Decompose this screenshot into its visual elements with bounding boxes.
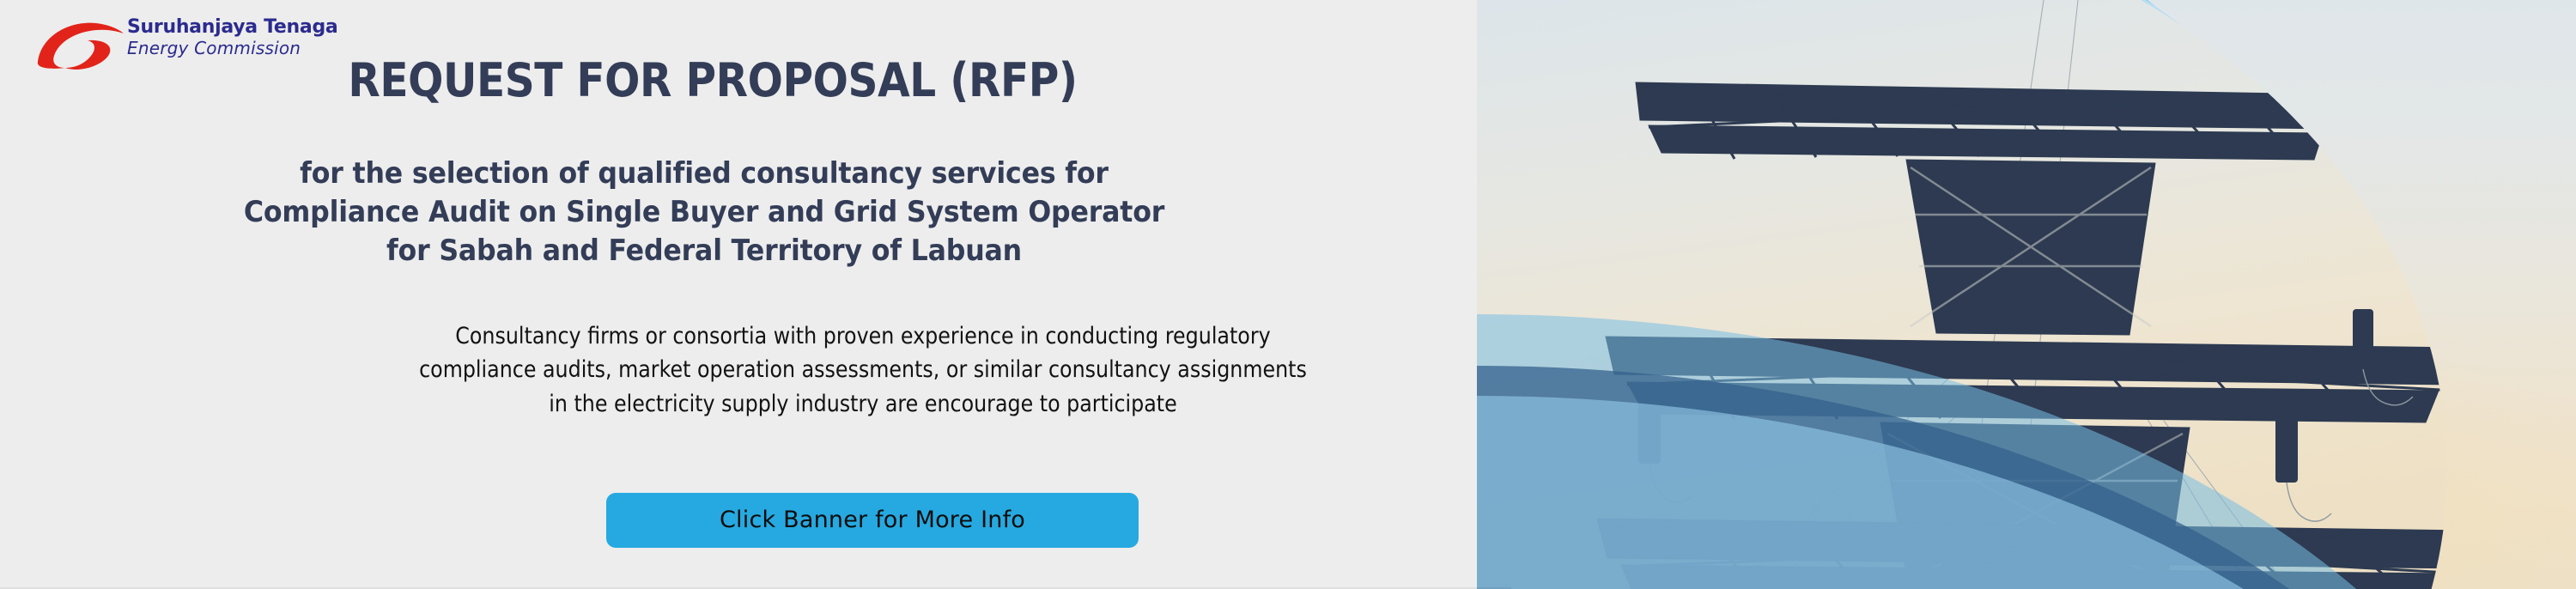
subtitle-line-1: for the selection of qualified consultan… [49, 155, 1358, 193]
photo-window [1477, 0, 2447, 589]
content-panel: Suruhanjaya Tenaga Energy Commission REQ… [0, 0, 1477, 589]
rfp-banner[interactable]: Suruhanjaya Tenaga Energy Commission REQ… [0, 0, 2576, 589]
description-line-2: compliance audits, market operation asse… [104, 353, 1623, 386]
logo-title: Suruhanjaya Tenaga [127, 17, 337, 37]
description-line-3: in the electricity supply industry are e… [104, 387, 1623, 421]
description-line-1: Consultancy firms or consortia with prov… [104, 319, 1623, 353]
page-title: REQUEST FOR PROPOSAL (RFP) [71, 53, 1354, 107]
description-paragraph: Consultancy firms or consortia with prov… [104, 319, 1623, 421]
artwork-panel [1477, 0, 2576, 589]
click-banner-more-info-button[interactable]: Click Banner for More Info [606, 493, 1139, 548]
subtitle-line-3: for Sabah and Federal Territory of Labua… [49, 232, 1358, 270]
subtitle-line-2: Compliance Audit on Single Buyer and Gri… [49, 193, 1358, 232]
pylon-photo [1477, 0, 2447, 589]
transmission-pylon-icon [1477, 0, 2447, 589]
logo-wordmark: Suruhanjaya Tenaga Energy Commission [127, 17, 337, 58]
subtitle-block: for the selection of qualified consultan… [49, 155, 1358, 271]
